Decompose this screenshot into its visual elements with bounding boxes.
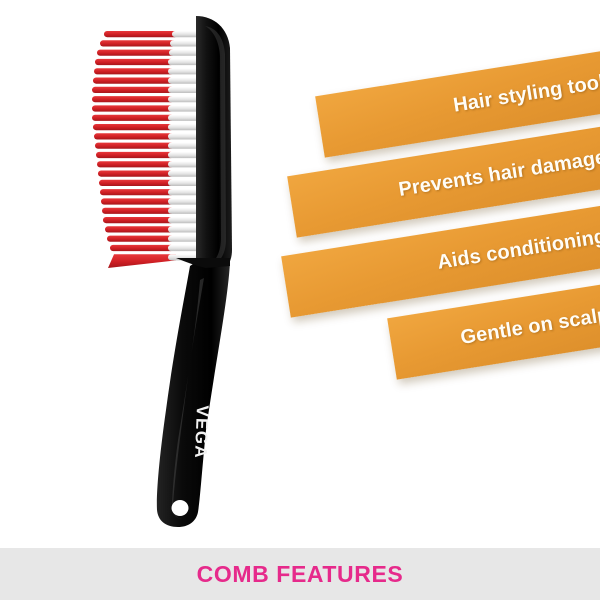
- brand-label: VEGA: [191, 405, 212, 459]
- feature-banner-1-label: Hair styling tool: [452, 71, 600, 118]
- comb-spine: [196, 16, 232, 276]
- footer-bar: COMB FEATURES: [0, 548, 600, 600]
- feature-banner-list: Hair styling tool Prevents hair damage A…: [270, 60, 600, 380]
- product-feature-graphic: VEGA Hair styling tool Prevents hair dam…: [0, 0, 600, 600]
- product-image: VEGA: [0, 0, 300, 548]
- feature-banner-3-label: Aids conditioning: [436, 225, 600, 274]
- feature-banner-4-label: Gentle on scalp: [459, 303, 600, 349]
- comb-illustration: VEGA: [0, 0, 300, 548]
- hang-hole: [172, 500, 189, 516]
- feature-banner-2-label: Prevents hair damage: [397, 146, 600, 202]
- footer-title: COMB FEATURES: [197, 561, 404, 588]
- comb-handle: [157, 262, 230, 527]
